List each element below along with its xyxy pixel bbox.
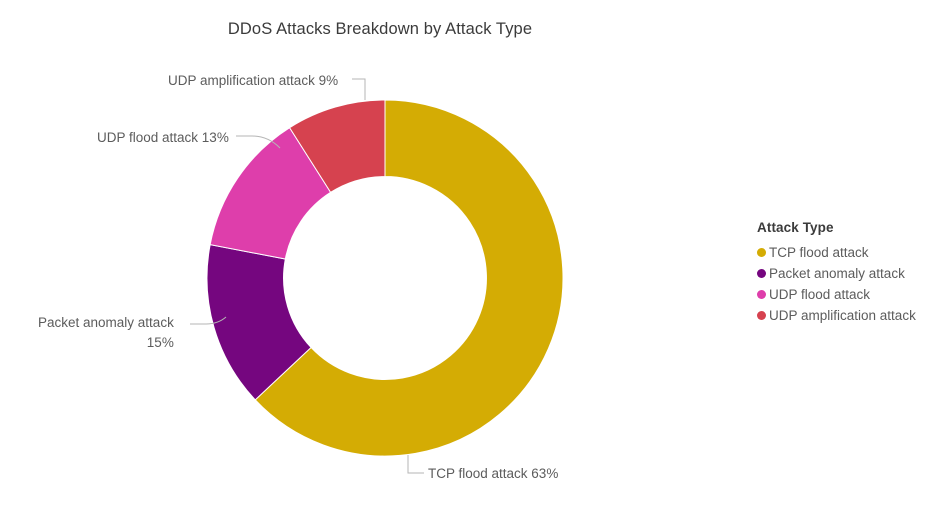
plot-area: UDP amplification attack 9% UDP flood at… [0, 0, 740, 509]
legend-item[interactable]: TCP flood attack [757, 242, 932, 263]
legend-title: Attack Type [757, 220, 932, 235]
donut-slice-group[interactable] [207, 100, 563, 456]
legend-item-label: UDP flood attack [769, 287, 870, 302]
legend-item-label: Packet anomaly attack [769, 266, 905, 281]
legend-item-label: UDP amplification attack [769, 308, 916, 323]
legend-swatch-icon [757, 290, 766, 299]
slice-label-packet-anomaly-line1: Packet anomaly attack [38, 315, 174, 330]
slice-label-packet-anomaly-value: 15% [38, 333, 174, 353]
leader-line-udp-amplification [352, 79, 365, 100]
slice-label-packet-anomaly: Packet anomaly attack 15% [38, 313, 174, 352]
leader-line-tcp-flood [408, 455, 424, 473]
legend: Attack Type TCP flood attackPacket anoma… [757, 220, 932, 326]
legend-item[interactable]: UDP amplification attack [757, 305, 932, 326]
legend-swatch-icon [757, 311, 766, 320]
slice-label-udp-flood: UDP flood attack 13% [97, 128, 229, 148]
legend-item[interactable]: UDP flood attack [757, 284, 932, 305]
slice-label-udp-amplification: UDP amplification attack 9% [168, 71, 338, 91]
donut-chart-figure: DDoS Attacks Breakdown by Attack Type UD… [0, 0, 936, 509]
legend-items: TCP flood attackPacket anomaly attackUDP… [757, 242, 932, 326]
legend-item[interactable]: Packet anomaly attack [757, 263, 932, 284]
donut-svg [0, 0, 740, 509]
legend-swatch-icon [757, 269, 766, 278]
slice-label-tcp-flood: TCP flood attack 63% [428, 464, 558, 484]
legend-swatch-icon [757, 248, 766, 257]
legend-item-label: TCP flood attack [769, 245, 869, 260]
